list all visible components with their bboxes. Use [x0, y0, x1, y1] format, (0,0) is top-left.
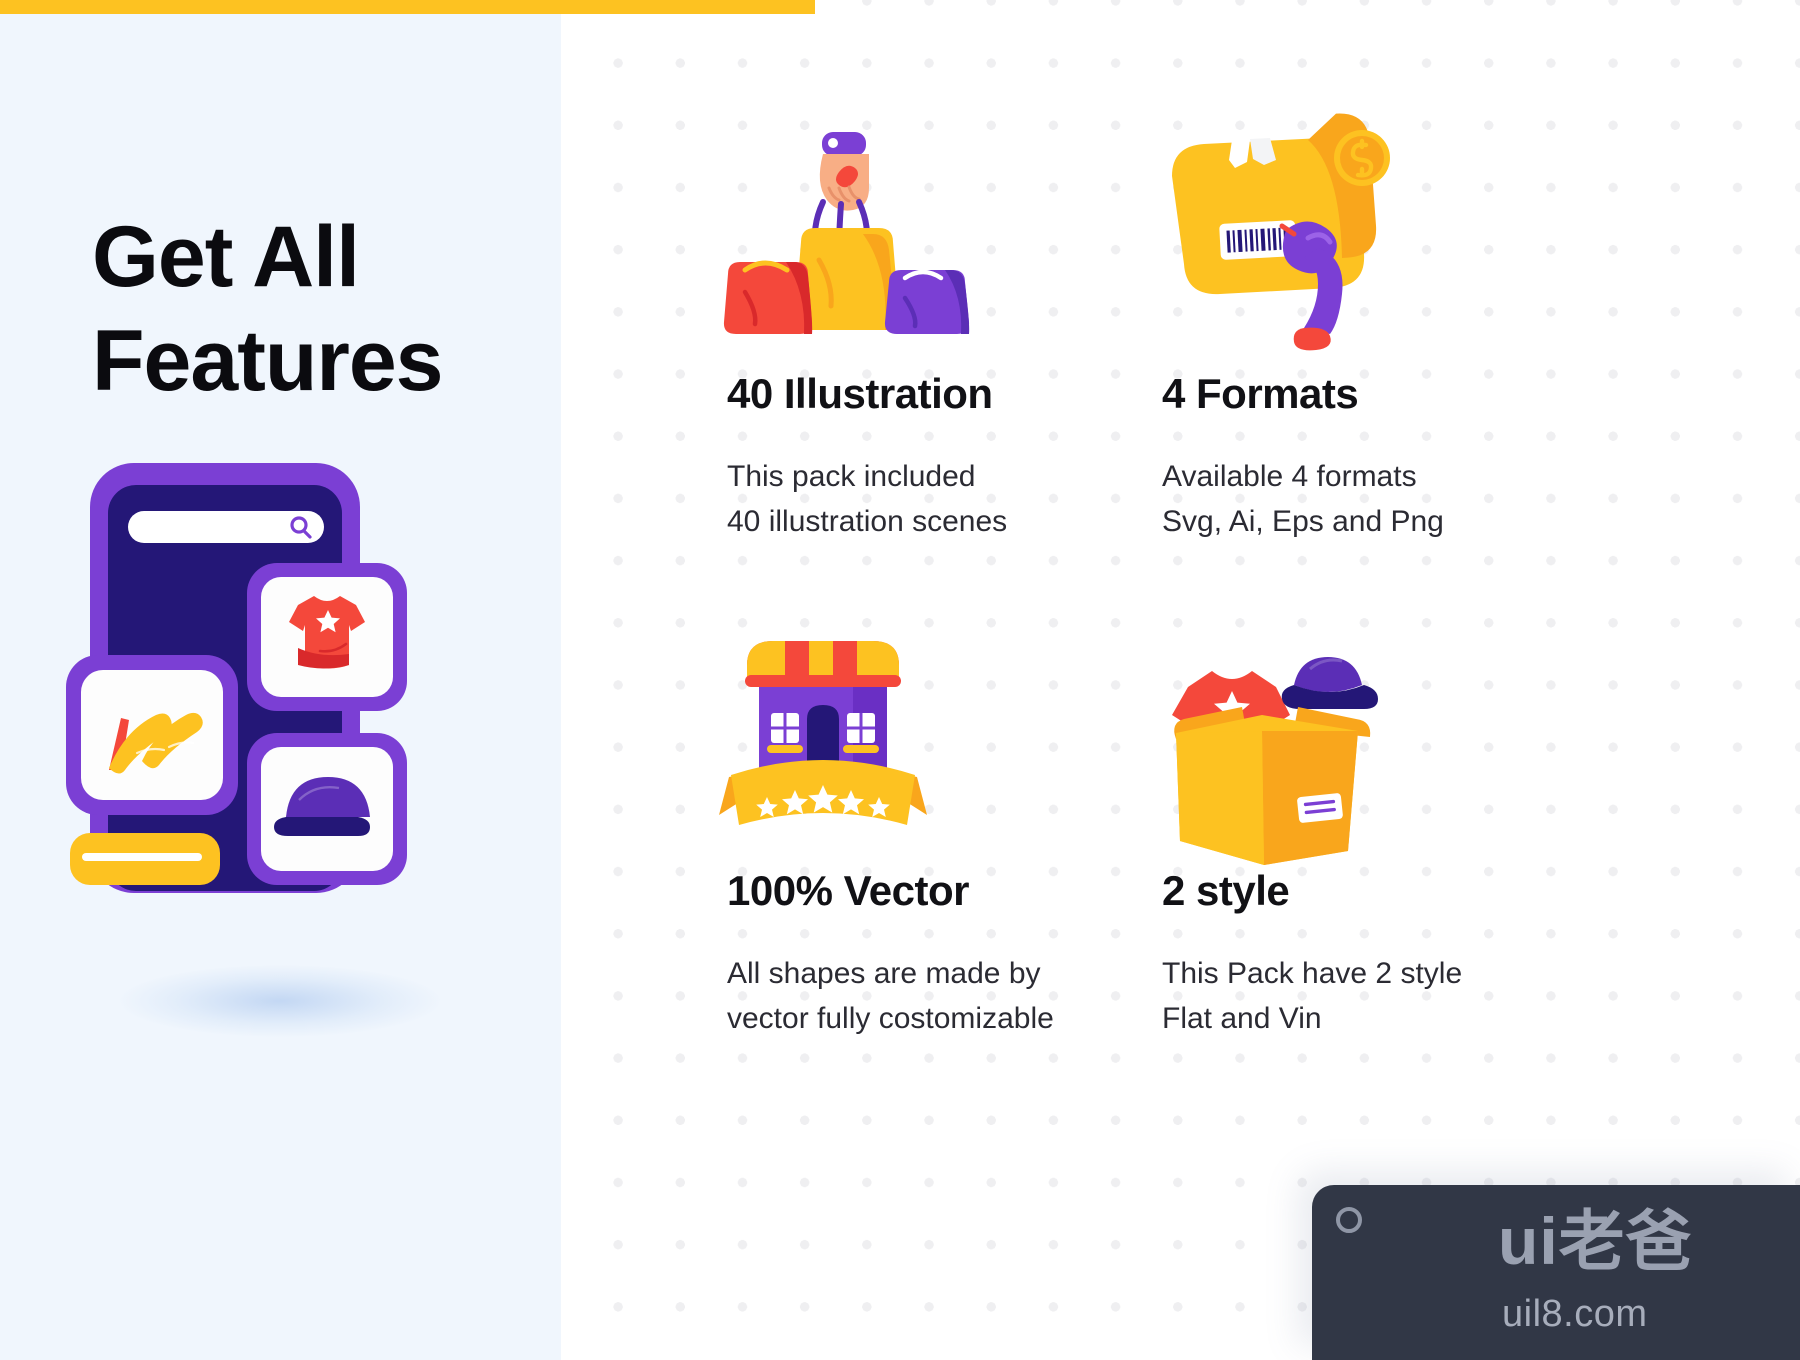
right-panel: 40 Illustration This pack included 40 il… — [561, 0, 1800, 1360]
page-title: Get All Features — [92, 205, 532, 413]
feature-title: 100% Vector — [727, 867, 1163, 915]
circle-outline-icon — [1336, 1207, 1362, 1233]
feature-description-line-2: Flat and Vin — [1162, 996, 1598, 1041]
feature-title: 4 Formats — [1162, 370, 1598, 418]
feature-title: 2 style — [1162, 867, 1598, 915]
feature-description-line-2: 40 illustration scenes — [727, 499, 1163, 544]
feature-description-line-1: Available 4 formats — [1162, 454, 1598, 499]
tshirt-tile — [247, 563, 407, 711]
page-title-line-2: Features — [92, 309, 532, 413]
feature-card-40-illustration: 40 Illustration This pack included 40 il… — [723, 130, 1163, 544]
feature-description: Available 4 formats Svg, Ai, Eps and Png — [1162, 454, 1598, 544]
phone-search-bar — [128, 511, 324, 543]
features-grid: 40 Illustration This pack included 40 il… — [561, 0, 1800, 1360]
watermark-badge: ui老爸 uil8.com — [1312, 1185, 1800, 1360]
open-box-tshirt-illustration — [1158, 627, 1598, 867]
feature-card-4-formats: 4 Formats Available 4 formats Svg, Ai, E… — [1158, 130, 1598, 544]
watermark-url: uil8.com — [1502, 1293, 1648, 1336]
page-title-line-1: Get All — [92, 205, 532, 309]
feature-card-100-vector: 100% Vector All shapes are made by vecto… — [723, 627, 1163, 1041]
cap-tile — [247, 733, 407, 885]
feature-description-line-1: This pack included — [727, 454, 1163, 499]
left-panel: Get All Features — [0, 0, 561, 1360]
phone-shadow — [120, 965, 440, 1037]
barcode-scanner-box-illustration — [1158, 130, 1598, 370]
feature-description: This pack included 40 illustration scene… — [727, 454, 1163, 544]
feature-description-line-2: vector fully costomizable — [727, 996, 1163, 1041]
watermark-logo: ui老爸 — [1498, 1205, 1693, 1277]
shopping-bags-illustration — [723, 130, 1163, 370]
storefront-ribbon-illustration — [723, 627, 1163, 867]
feature-description-line-2: Svg, Ai, Eps and Png — [1162, 499, 1598, 544]
feature-card-2-style: 2 style This Pack have 2 style Flat and … — [1158, 627, 1598, 1041]
shopping-app-phone-illustration — [62, 455, 502, 1035]
top-accent-bar — [0, 0, 815, 14]
feature-description-line-1: All shapes are made by — [727, 951, 1163, 996]
feature-title: 40 Illustration — [727, 370, 1163, 418]
feature-description: All shapes are made by vector fully cost… — [727, 951, 1163, 1041]
high-heels-tile — [66, 655, 238, 815]
feature-description-line-1: This Pack have 2 style — [1162, 951, 1598, 996]
feature-description: This Pack have 2 style Flat and Vin — [1162, 951, 1598, 1041]
